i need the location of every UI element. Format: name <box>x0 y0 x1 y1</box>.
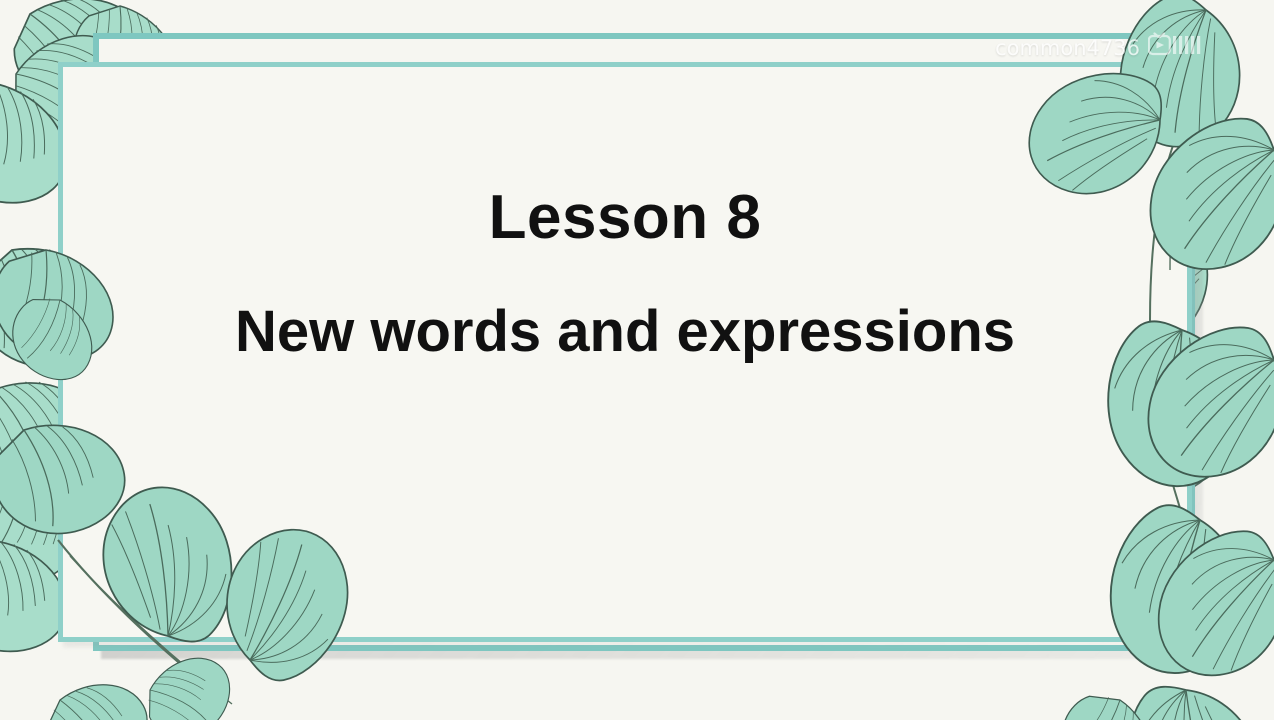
slide-content: Lesson 8 New words and expressions <box>63 67 1187 637</box>
page-subtitle: New words and expressions <box>235 302 1015 363</box>
presentation-slide: Lesson 8 New words and expressions <box>0 0 1274 720</box>
page-title: Lesson 8 <box>489 185 762 250</box>
